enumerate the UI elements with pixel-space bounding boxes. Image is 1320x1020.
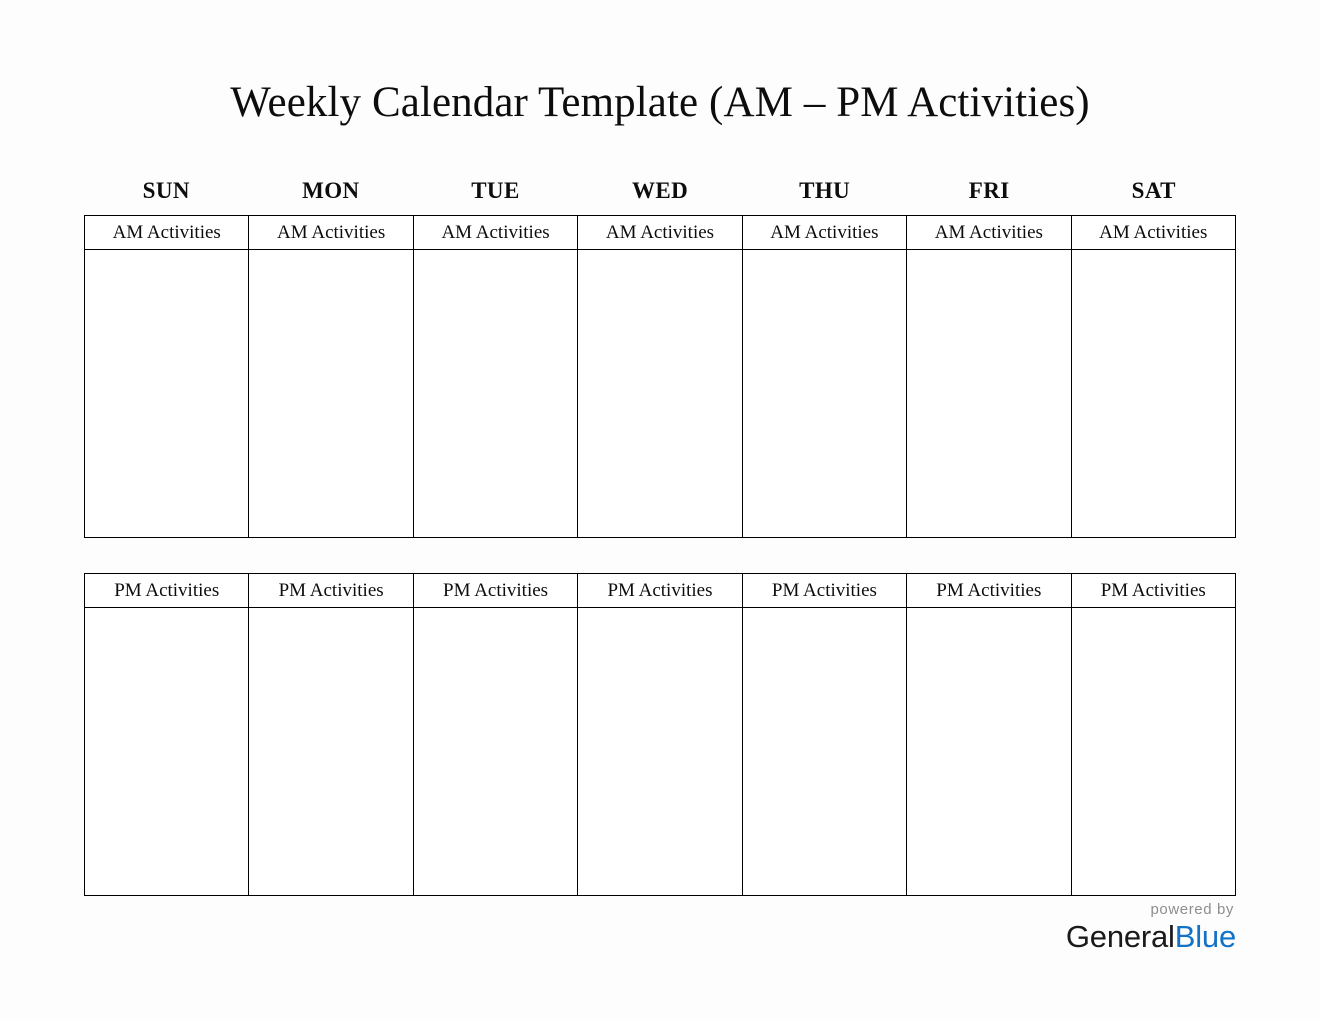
page-title: Weekly Calendar Template (AM – PM Activi…: [0, 78, 1320, 127]
am-header-thu: AM Activities: [742, 216, 906, 250]
pm-header-fri: PM Activities: [907, 574, 1071, 608]
weekday-label-thu: THU: [742, 178, 907, 203]
am-entry-sat[interactable]: [1071, 250, 1235, 538]
weekday-label-wed: WED: [578, 178, 743, 203]
am-entry-mon[interactable]: [249, 250, 413, 538]
am-header-tue: AM Activities: [413, 216, 577, 250]
am-header-wed: AM Activities: [578, 216, 742, 250]
am-entry-tue[interactable]: [413, 250, 577, 538]
am-entry-thu[interactable]: [742, 250, 906, 538]
am-entry-fri[interactable]: [907, 250, 1071, 538]
pm-header-thu: PM Activities: [742, 574, 906, 608]
brand-wordmark: GeneralBlue: [1066, 921, 1236, 952]
pm-activities-table: PM Activities PM Activities PM Activitie…: [84, 573, 1236, 896]
weekday-label-sat: SAT: [1071, 178, 1236, 203]
weekday-header-row: SUN MON TUE WED THU FRI SAT: [84, 178, 1236, 203]
am-activities-table: AM Activities AM Activities AM Activitie…: [84, 215, 1236, 538]
am-entry-wed[interactable]: [578, 250, 742, 538]
pm-entry-thu[interactable]: [742, 608, 906, 896]
pm-header-wed: PM Activities: [578, 574, 742, 608]
pm-header-row: PM Activities PM Activities PM Activitie…: [85, 574, 1236, 608]
pm-header-sat: PM Activities: [1071, 574, 1235, 608]
weekday-label-sun: SUN: [84, 178, 249, 203]
pm-entry-wed[interactable]: [578, 608, 742, 896]
am-header-fri: AM Activities: [907, 216, 1071, 250]
pm-entry-sat[interactable]: [1071, 608, 1235, 896]
pm-entry-row: [85, 608, 1236, 896]
pm-entry-fri[interactable]: [907, 608, 1071, 896]
am-entry-row: [85, 250, 1236, 538]
am-entry-sun[interactable]: [85, 250, 249, 538]
am-header-sat: AM Activities: [1071, 216, 1235, 250]
powered-by-label: powered by: [1066, 902, 1236, 917]
generalblue-logo: powered by GeneralBlue: [1066, 902, 1236, 952]
weekday-label-tue: TUE: [413, 178, 578, 203]
pm-entry-mon[interactable]: [249, 608, 413, 896]
pm-header-mon: PM Activities: [249, 574, 413, 608]
pm-header-tue: PM Activities: [413, 574, 577, 608]
am-header-sun: AM Activities: [85, 216, 249, 250]
am-header-row: AM Activities AM Activities AM Activitie…: [85, 216, 1236, 250]
brand-word-blue: Blue: [1175, 919, 1236, 954]
am-header-mon: AM Activities: [249, 216, 413, 250]
pm-header-sun: PM Activities: [85, 574, 249, 608]
weekday-label-fri: FRI: [907, 178, 1072, 203]
brand-word-general: General: [1066, 919, 1175, 954]
pm-entry-tue[interactable]: [413, 608, 577, 896]
calendar-page: Weekly Calendar Template (AM – PM Activi…: [0, 0, 1320, 1020]
weekday-label-mon: MON: [249, 178, 414, 203]
pm-entry-sun[interactable]: [85, 608, 249, 896]
